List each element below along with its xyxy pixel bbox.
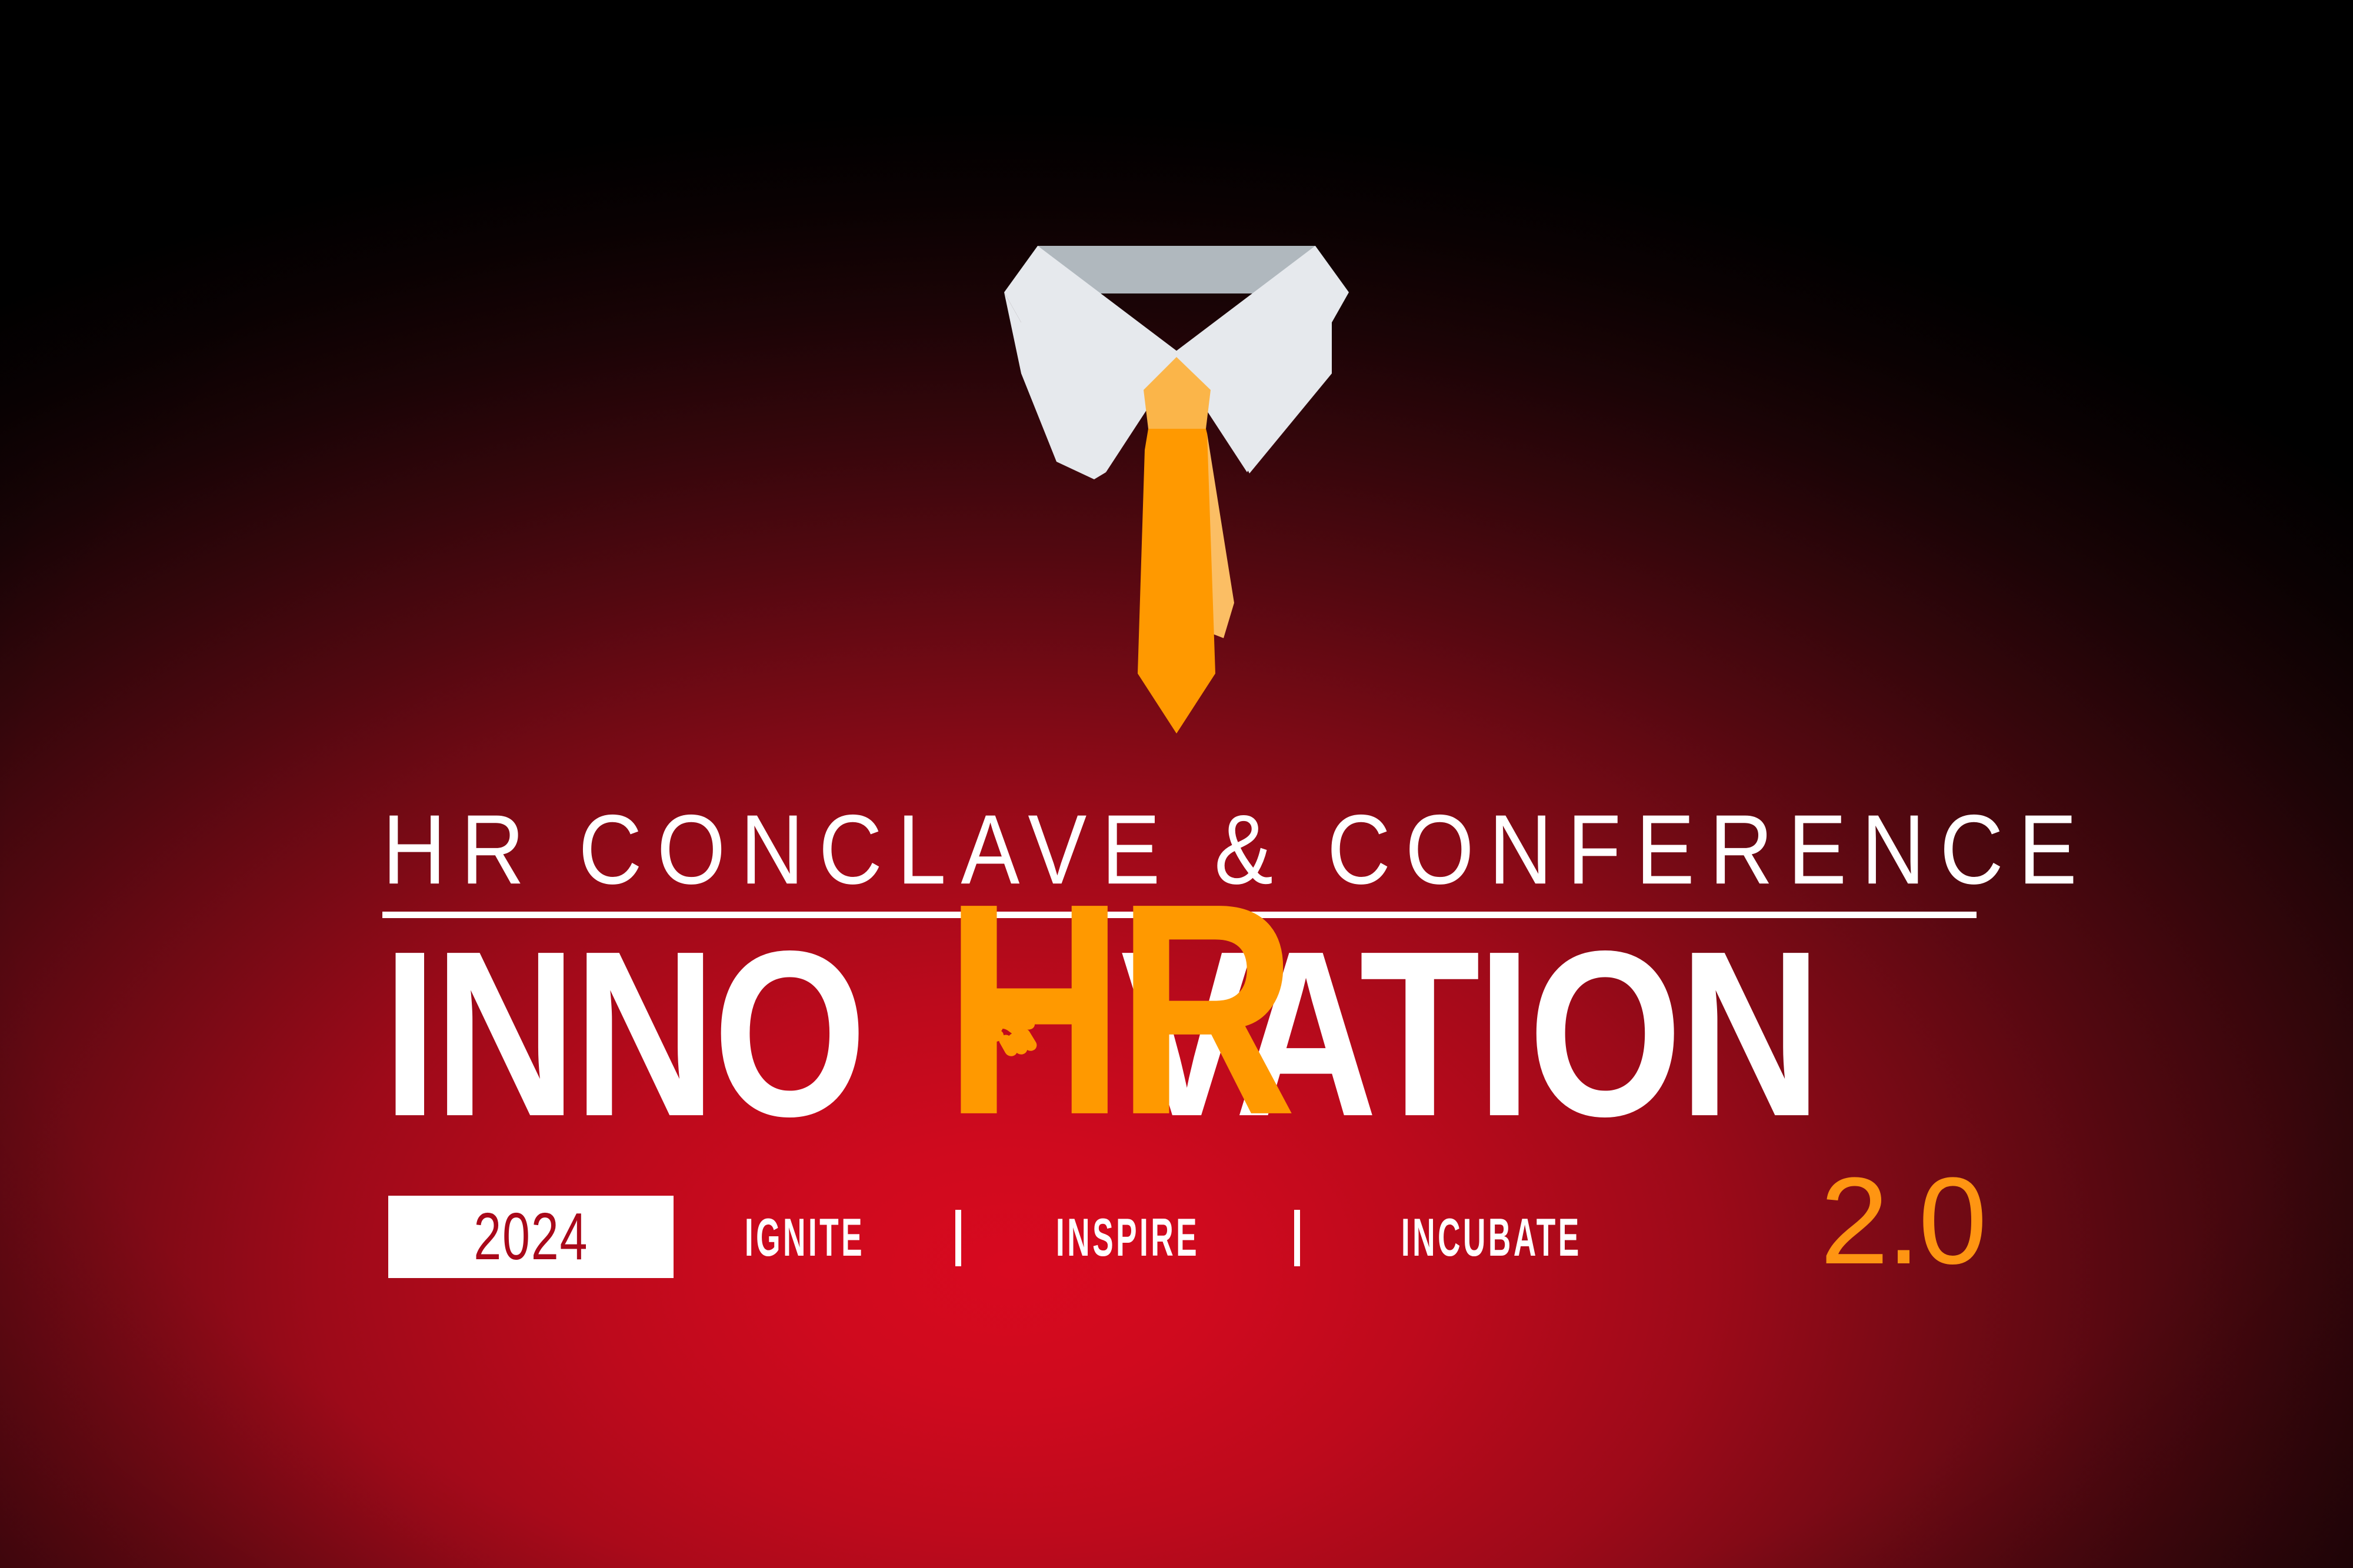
wordmark: INNO VATION HR (382, 950, 1977, 1126)
version-label: 2.0 (1820, 1159, 1985, 1283)
tagline-group: IGNITE INSPIRE INCUBATE (724, 1210, 1614, 1266)
poster-content: HR CONCLAVE & CONFERENCE INNO VATION HR (382, 810, 1977, 1284)
tagline-ignite: IGNITE (745, 1212, 865, 1265)
year-badge: 2024 (388, 1196, 674, 1278)
bottom-row: 2024 IGNITE INSPIRE INCUBATE 2.0 (382, 1196, 1977, 1284)
tagline-separator (955, 1210, 961, 1266)
year-label: 2024 (474, 1203, 588, 1270)
handshake-icon (964, 987, 1051, 1057)
tagline-inspire: INSPIRE (1056, 1212, 1199, 1265)
tagline-incubate: INCUBATE (1401, 1212, 1582, 1265)
wordmark-highlight-group: HR (944, 892, 1138, 1127)
necktie-icon (1000, 226, 1353, 773)
tagline-separator (1294, 1210, 1300, 1266)
event-poster: HR CONCLAVE & CONFERENCE INNO VATION HR (0, 0, 2353, 1568)
wordmark-prefix: INNO (382, 942, 864, 1126)
